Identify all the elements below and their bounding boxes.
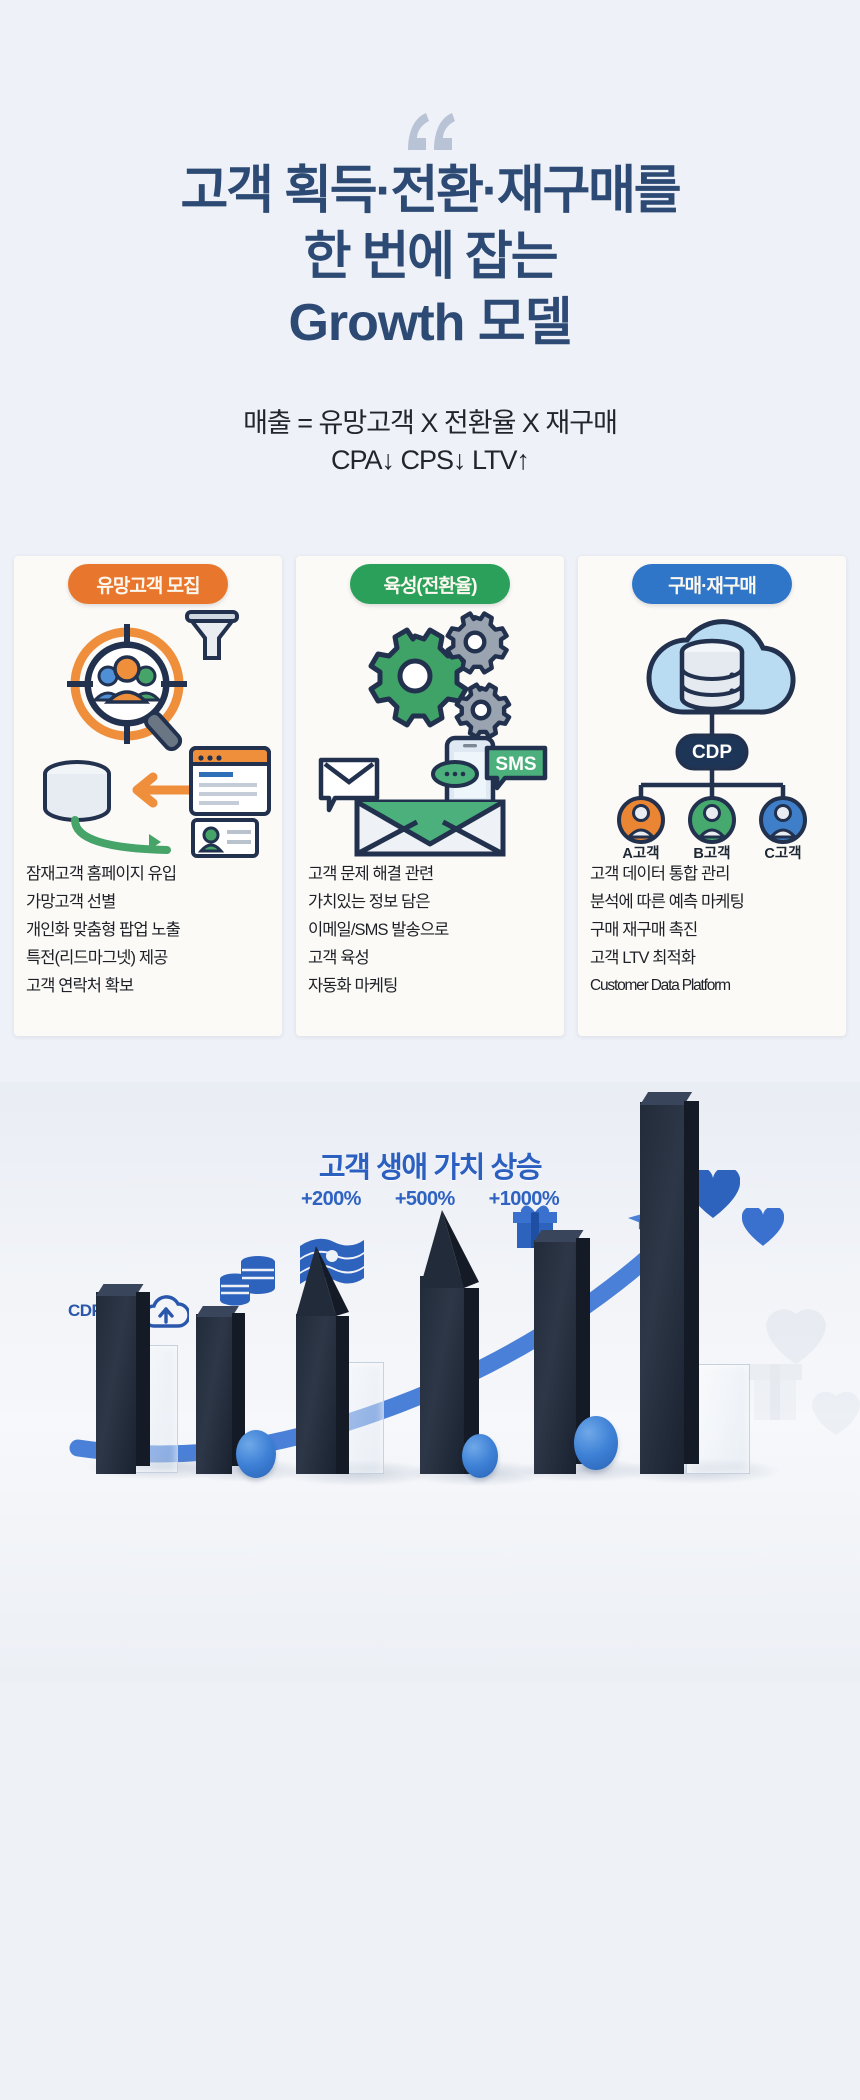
infographic-page: 고객 획득·전환·재구매를 한 번에 잡는 Growth 모델 매출 = 유망고… — [0, 0, 860, 2100]
headline-line-3: Growth 모델 — [0, 290, 860, 356]
node-label-b: B고객 — [693, 844, 730, 860]
database-webpage-contact-icon — [45, 748, 269, 856]
heart-icon — [742, 1208, 784, 1248]
headline-line-1: 고객 획득·전환·재구매를 — [0, 158, 860, 224]
bar-1 — [96, 1284, 152, 1474]
percent-badge-1: +200% — [301, 1188, 361, 1211]
card-art-purchase: CDP A고객 — [578, 602, 846, 860]
card-body-nurturing: 고객 문제 해결 관련 가치있는 정보 담은 이메일/SMS 발송으로 고객 육… — [296, 860, 564, 1014]
sphere-decor — [462, 1434, 498, 1478]
coin-stack-icon — [218, 1252, 278, 1310]
strategy-cards: 유망고객 모집 — [14, 556, 846, 1036]
card-body-prospect: 잠재고객 홈페이지 유입 가망고객 선별 개인화 맞춤형 팝업 노출 특전(리드… — [14, 860, 282, 1014]
customer-avatar-icon: A고객 B고객 C고객 — [619, 798, 805, 860]
card-prospect-acquisition[interactable]: 유망고객 모집 — [14, 556, 282, 1036]
revenue-formula: 매출 = 유망고객 X 전환율 X 재구매 CPA↓ CPS↓ LTV↑ — [0, 405, 860, 479]
node-label-a: A고객 — [622, 844, 659, 860]
list-item: 가치있는 정보 담은 — [308, 888, 552, 916]
svg-text:SMS: SMS — [495, 754, 536, 775]
quote-mark-icon — [0, 108, 860, 154]
list-item: 고객 LTV 최적화 — [590, 944, 834, 972]
card-purchase-repurchase[interactable]: 구매·재구매 CDP — [578, 556, 846, 1036]
percent-badge-2: +500% — [395, 1188, 455, 1211]
sphere-decor — [236, 1430, 276, 1478]
list-item: 고객 연락처 확보 — [26, 972, 270, 1000]
card-body-purchase: 고객 데이터 통합 관리 분석에 따른 예측 마케팅 구매 재구매 촉진 고객 … — [578, 860, 846, 1014]
card-nurturing-conversion[interactable]: 육성(전환율) — [296, 556, 564, 1036]
cloud-database-icon — [649, 622, 793, 712]
list-item: 고객 데이터 통합 관리 — [590, 860, 834, 888]
list-item: 가망고객 선별 — [26, 888, 270, 916]
bar-4-spire — [420, 1210, 482, 1474]
list-item: 구매 재구매 촉진 — [590, 916, 834, 944]
list-item: 개인화 맞춤형 팝업 노출 — [26, 916, 270, 944]
sphere-decor — [574, 1416, 618, 1470]
cdp-node-icon: CDP — [641, 709, 783, 801]
card-badge-nurturing: 육성(전환율) — [350, 564, 510, 604]
formula-line-2: CPA↓ CPS↓ LTV↑ — [0, 442, 860, 479]
list-item: 고객 육성 — [308, 944, 552, 972]
bar-3-spire — [296, 1246, 352, 1474]
card-badge-purchase: 구매·재구매 — [632, 564, 792, 604]
scene-base — [0, 1682, 860, 2100]
list-item: 분석에 따른 예측 마케팅 — [590, 888, 834, 916]
list-item: Customer Data Platform — [590, 972, 834, 1000]
cdp-hub-label: CDP — [692, 742, 732, 763]
card-badge-prospect: 유망고객 모집 — [68, 564, 228, 604]
bar-6 — [640, 1092, 702, 1474]
page-title: 고객 획득·전환·재구매를 한 번에 잡는 Growth 모델 — [0, 158, 860, 356]
list-item: 특전(리드마그넷) 제공 — [26, 944, 270, 972]
formula-line-1: 매출 = 유망고객 X 전환율 X 재구매 — [0, 405, 860, 442]
gears-icon — [371, 613, 509, 736]
list-item: 이메일/SMS 발송으로 — [308, 916, 552, 944]
card-art-prospect — [14, 602, 282, 860]
headline-line-2: 한 번에 잡는 — [0, 224, 860, 290]
hero-section: 고객 획득·전환·재구매를 한 번에 잡는 Growth 모델 매출 = 유망고… — [0, 0, 860, 1080]
growth-scene: 고객 생애 가치 상승 +200% +500% +1000% CDP — [0, 1082, 860, 2100]
list-item: 고객 문제 해결 관련 — [308, 860, 552, 888]
card-art-nurturing: SMS — [296, 602, 564, 860]
target-audience-search-icon — [67, 612, 237, 752]
list-item: 잠재고객 홈페이지 유입 — [26, 860, 270, 888]
node-label-c: C고객 — [764, 844, 801, 860]
list-item: 자동화 마케팅 — [308, 972, 552, 1000]
email-sms-envelope-icon: SMS — [321, 738, 545, 854]
